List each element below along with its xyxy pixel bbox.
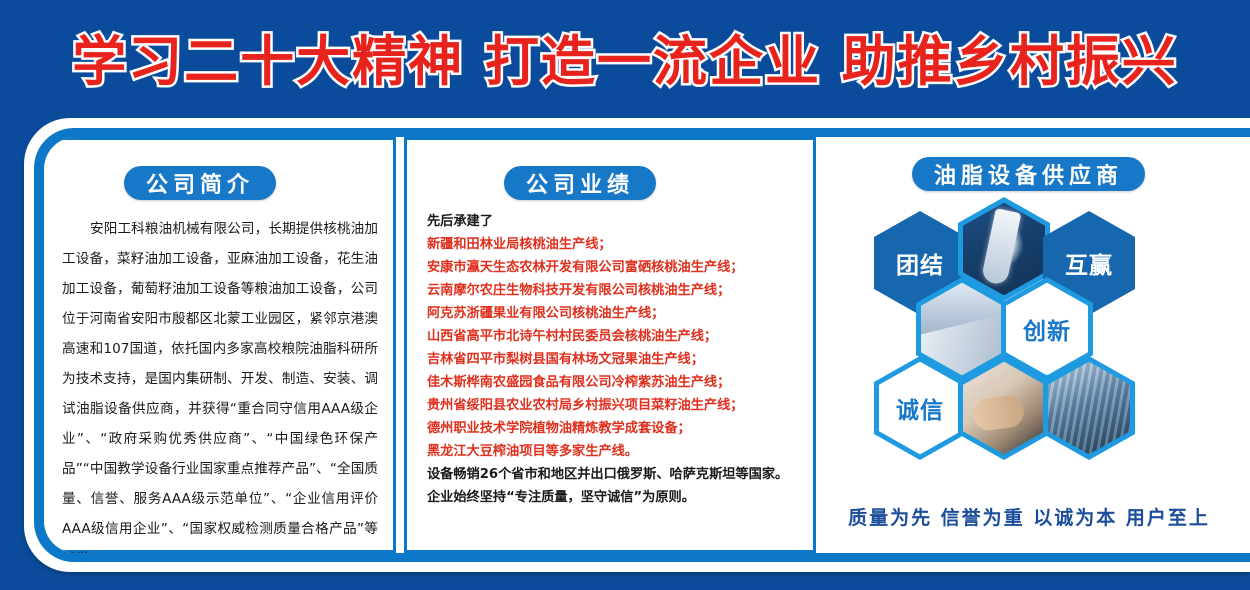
panels-row: 公司简介 安阳工科粮油机械有限公司，长期提供核桃油加工设备，菜籽油加工设备，亚麻… bbox=[44, 137, 1250, 553]
achievement-item: 云南摩尔农庄生物科技开发有限公司核桃油生产线； bbox=[427, 279, 803, 302]
panel-company-achievements: 公司业绩 先后承建了 新疆和田林业局核桃油生产线；安康市瀛天生态农林开发有限公司… bbox=[404, 137, 816, 553]
achievement-summary-line: 企业始终坚持“专注质量，坚守诚信”为原则。 bbox=[427, 486, 803, 509]
hexagon-label-chengxin: 诚信 bbox=[896, 391, 944, 425]
achievements-projects: 新疆和田林业局核桃油生产线；安康市瀛天生态农林开发有限公司富硒核桃油生产线；云南… bbox=[427, 233, 803, 463]
panel-header-company-achievements: 公司业绩 bbox=[504, 166, 656, 200]
panel-supplier-values: 油脂设备供应商 团结 互赢 bbox=[816, 137, 1250, 553]
company-profile-text: 安阳工科粮油机械有限公司，长期提供核桃油加工设备，菜籽油加工设备，亚麻油加工设备… bbox=[62, 214, 378, 553]
hexagon-label-huying: 互赢 bbox=[1065, 246, 1113, 280]
page-title: 学习二十大精神 打造一流企业 助推乡村振兴 bbox=[72, 17, 1178, 96]
achievements-outro: 设备畅销26个省市和地区并出口俄罗斯、哈萨克斯坦等国家。企业始终坚持“专注质量，… bbox=[427, 463, 803, 509]
hexagon-chuangxin-inner: 创新 bbox=[1006, 283, 1088, 376]
hexagon-cluster: 团结 互赢 创新 bbox=[816, 195, 1242, 495]
hexagon-label-chuangxin: 创新 bbox=[1023, 312, 1071, 346]
achievement-item: 贵州省绥阳县农业农村局乡村振兴项目菜籽油生产线； bbox=[427, 394, 803, 417]
achievement-item: 山西省高平市北诗午村村民委员会核桃油生产线； bbox=[427, 325, 803, 348]
achievement-item: 黑龙江大豆榨油项目等多家生产线。 bbox=[427, 440, 803, 463]
handshake-photo bbox=[963, 362, 1045, 455]
aircraft-carrier-photo bbox=[963, 203, 1045, 296]
achievement-item: 安康市瀛天生态农林开发有限公司富硒核桃油生产线； bbox=[427, 256, 803, 279]
achievement-summary-line: 设备畅销26个省市和地区并出口俄罗斯、哈萨克斯坦等国家。 bbox=[427, 463, 803, 486]
company-slogan: 质量为先 信誉为重 以诚为本 用户至上 bbox=[816, 503, 1242, 530]
achievements-list: 先后承建了 新疆和田林业局核桃油生产线；安康市瀛天生态农林开发有限公司富硒核桃油… bbox=[427, 210, 803, 509]
hexagon-label-tuanjie: 团结 bbox=[896, 246, 944, 280]
panel-header-supplier: 油脂设备供应商 bbox=[912, 157, 1145, 191]
panel-header-company-profile: 公司简介 bbox=[124, 166, 276, 200]
content-sheet: 公司简介 安阳工科粮油机械有限公司，长期提供核桃油加工设备，菜籽油加工设备，亚麻… bbox=[44, 137, 1250, 553]
banner-title-band: 学习二十大精神 打造一流企业 助推乡村振兴 bbox=[0, 0, 1250, 112]
achievement-item: 佳木斯桦南农盛园食品有限公司冷榨紫苏油生产线； bbox=[427, 371, 803, 394]
achievement-item: 德州职业技术学院植物油精炼教学成套设备； bbox=[427, 417, 803, 440]
office-building-photo bbox=[1048, 362, 1130, 455]
achievement-item: 吉林省四平市梨树县国有林场文冠果油生产线； bbox=[427, 348, 803, 371]
achievement-item: 新疆和田林业局核桃油生产线； bbox=[427, 233, 803, 256]
success-mountain-photo bbox=[921, 283, 1003, 376]
hexagon-chengxin-inner: 诚信 bbox=[879, 362, 961, 455]
achievements-intro: 先后承建了 bbox=[427, 210, 803, 233]
promotional-banner: 学习二十大精神 打造一流企业 助推乡村振兴 公司简介 安阳工科粮油机械有限公司，… bbox=[0, 0, 1250, 590]
panel-divider-gap bbox=[396, 137, 404, 553]
panel-company-profile: 公司简介 安阳工科粮油机械有限公司，长期提供核桃油加工设备，菜籽油加工设备，亚麻… bbox=[44, 137, 396, 553]
achievement-item: 阿克苏浙疆果业有限公司核桃油生产线； bbox=[427, 302, 803, 325]
